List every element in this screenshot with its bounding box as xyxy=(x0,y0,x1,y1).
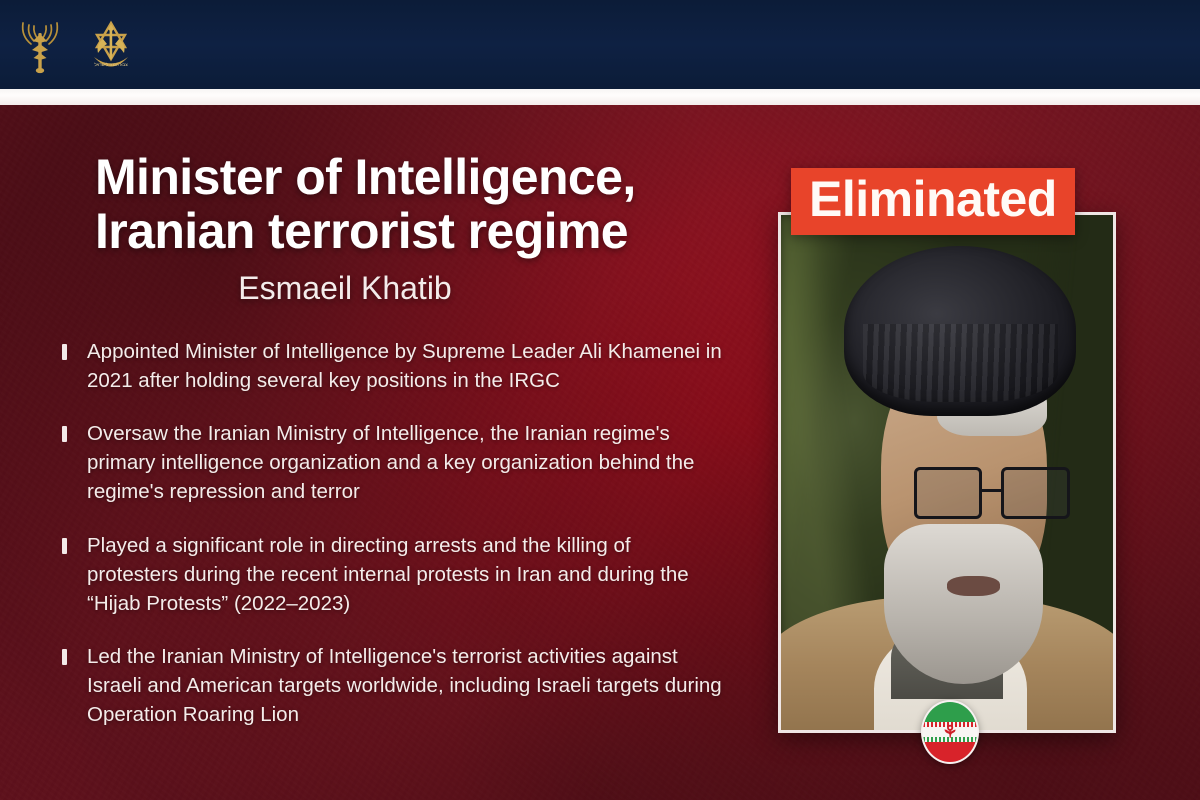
glasses-left-lens xyxy=(914,467,983,519)
title-line-1: Minister of Intelligence, xyxy=(95,150,760,204)
bullet-marker-icon xyxy=(62,649,67,665)
bullet-marker-icon xyxy=(62,426,67,442)
flag-emblem-icon: ⚘ xyxy=(942,724,957,741)
status-badge-label: Eliminated xyxy=(809,171,1057,227)
header-logos: צבא הגנה לישראל xyxy=(14,15,138,75)
portrait-beard xyxy=(884,524,1043,684)
flag-stripe-red xyxy=(923,742,977,762)
list-item: Led the Iranian Ministry of Intelligence… xyxy=(62,642,736,729)
header-divider xyxy=(0,89,1200,105)
idf-emblem-logo: צבא הגנה לישראל xyxy=(84,15,138,75)
glasses-right-lens xyxy=(1001,467,1070,519)
bullet-text: Played a significant role in directing a… xyxy=(87,531,727,618)
page-title: Minister of Intelligence, Iranian terror… xyxy=(0,150,760,258)
list-item: Oversaw the Iranian Ministry of Intellig… xyxy=(62,419,736,506)
bullet-marker-icon xyxy=(62,538,67,554)
portrait-glasses xyxy=(914,467,1070,519)
portrait-photo xyxy=(778,212,1116,733)
bullet-text: Led the Iranian Ministry of Intelligence… xyxy=(87,642,727,729)
list-item: Appointed Minister of Intelligence by Su… xyxy=(62,337,736,395)
bullet-list: Appointed Minister of Intelligence by Su… xyxy=(0,337,760,729)
bullet-text: Appointed Minister of Intelligence by Su… xyxy=(87,337,727,395)
subject-name: Esmaeil Khatib xyxy=(0,270,760,307)
flag-stripe-green xyxy=(923,702,977,722)
svg-text:צבא הגנה לישראל: צבא הגנה לישראל xyxy=(94,62,128,67)
list-item: Played a significant role in directing a… xyxy=(62,531,736,618)
header-bar: צבא הגנה לישראל xyxy=(0,0,1200,89)
iran-flag-badge-icon: ⚘ xyxy=(921,700,979,764)
idf-spokesperson-antenna-logo xyxy=(14,15,66,75)
title-line-2: Iranian terrorist regime xyxy=(95,204,760,258)
content-column: Minister of Intelligence, Iranian terror… xyxy=(0,105,760,800)
bullet-text: Oversaw the Iranian Ministry of Intellig… xyxy=(87,419,727,506)
glasses-bridge xyxy=(982,489,1001,492)
portrait-mouth xyxy=(947,576,1000,597)
portrait-image xyxy=(781,215,1113,730)
bullet-marker-icon xyxy=(62,344,67,360)
portrait-turban xyxy=(844,246,1076,416)
status-badge: Eliminated xyxy=(791,168,1075,235)
